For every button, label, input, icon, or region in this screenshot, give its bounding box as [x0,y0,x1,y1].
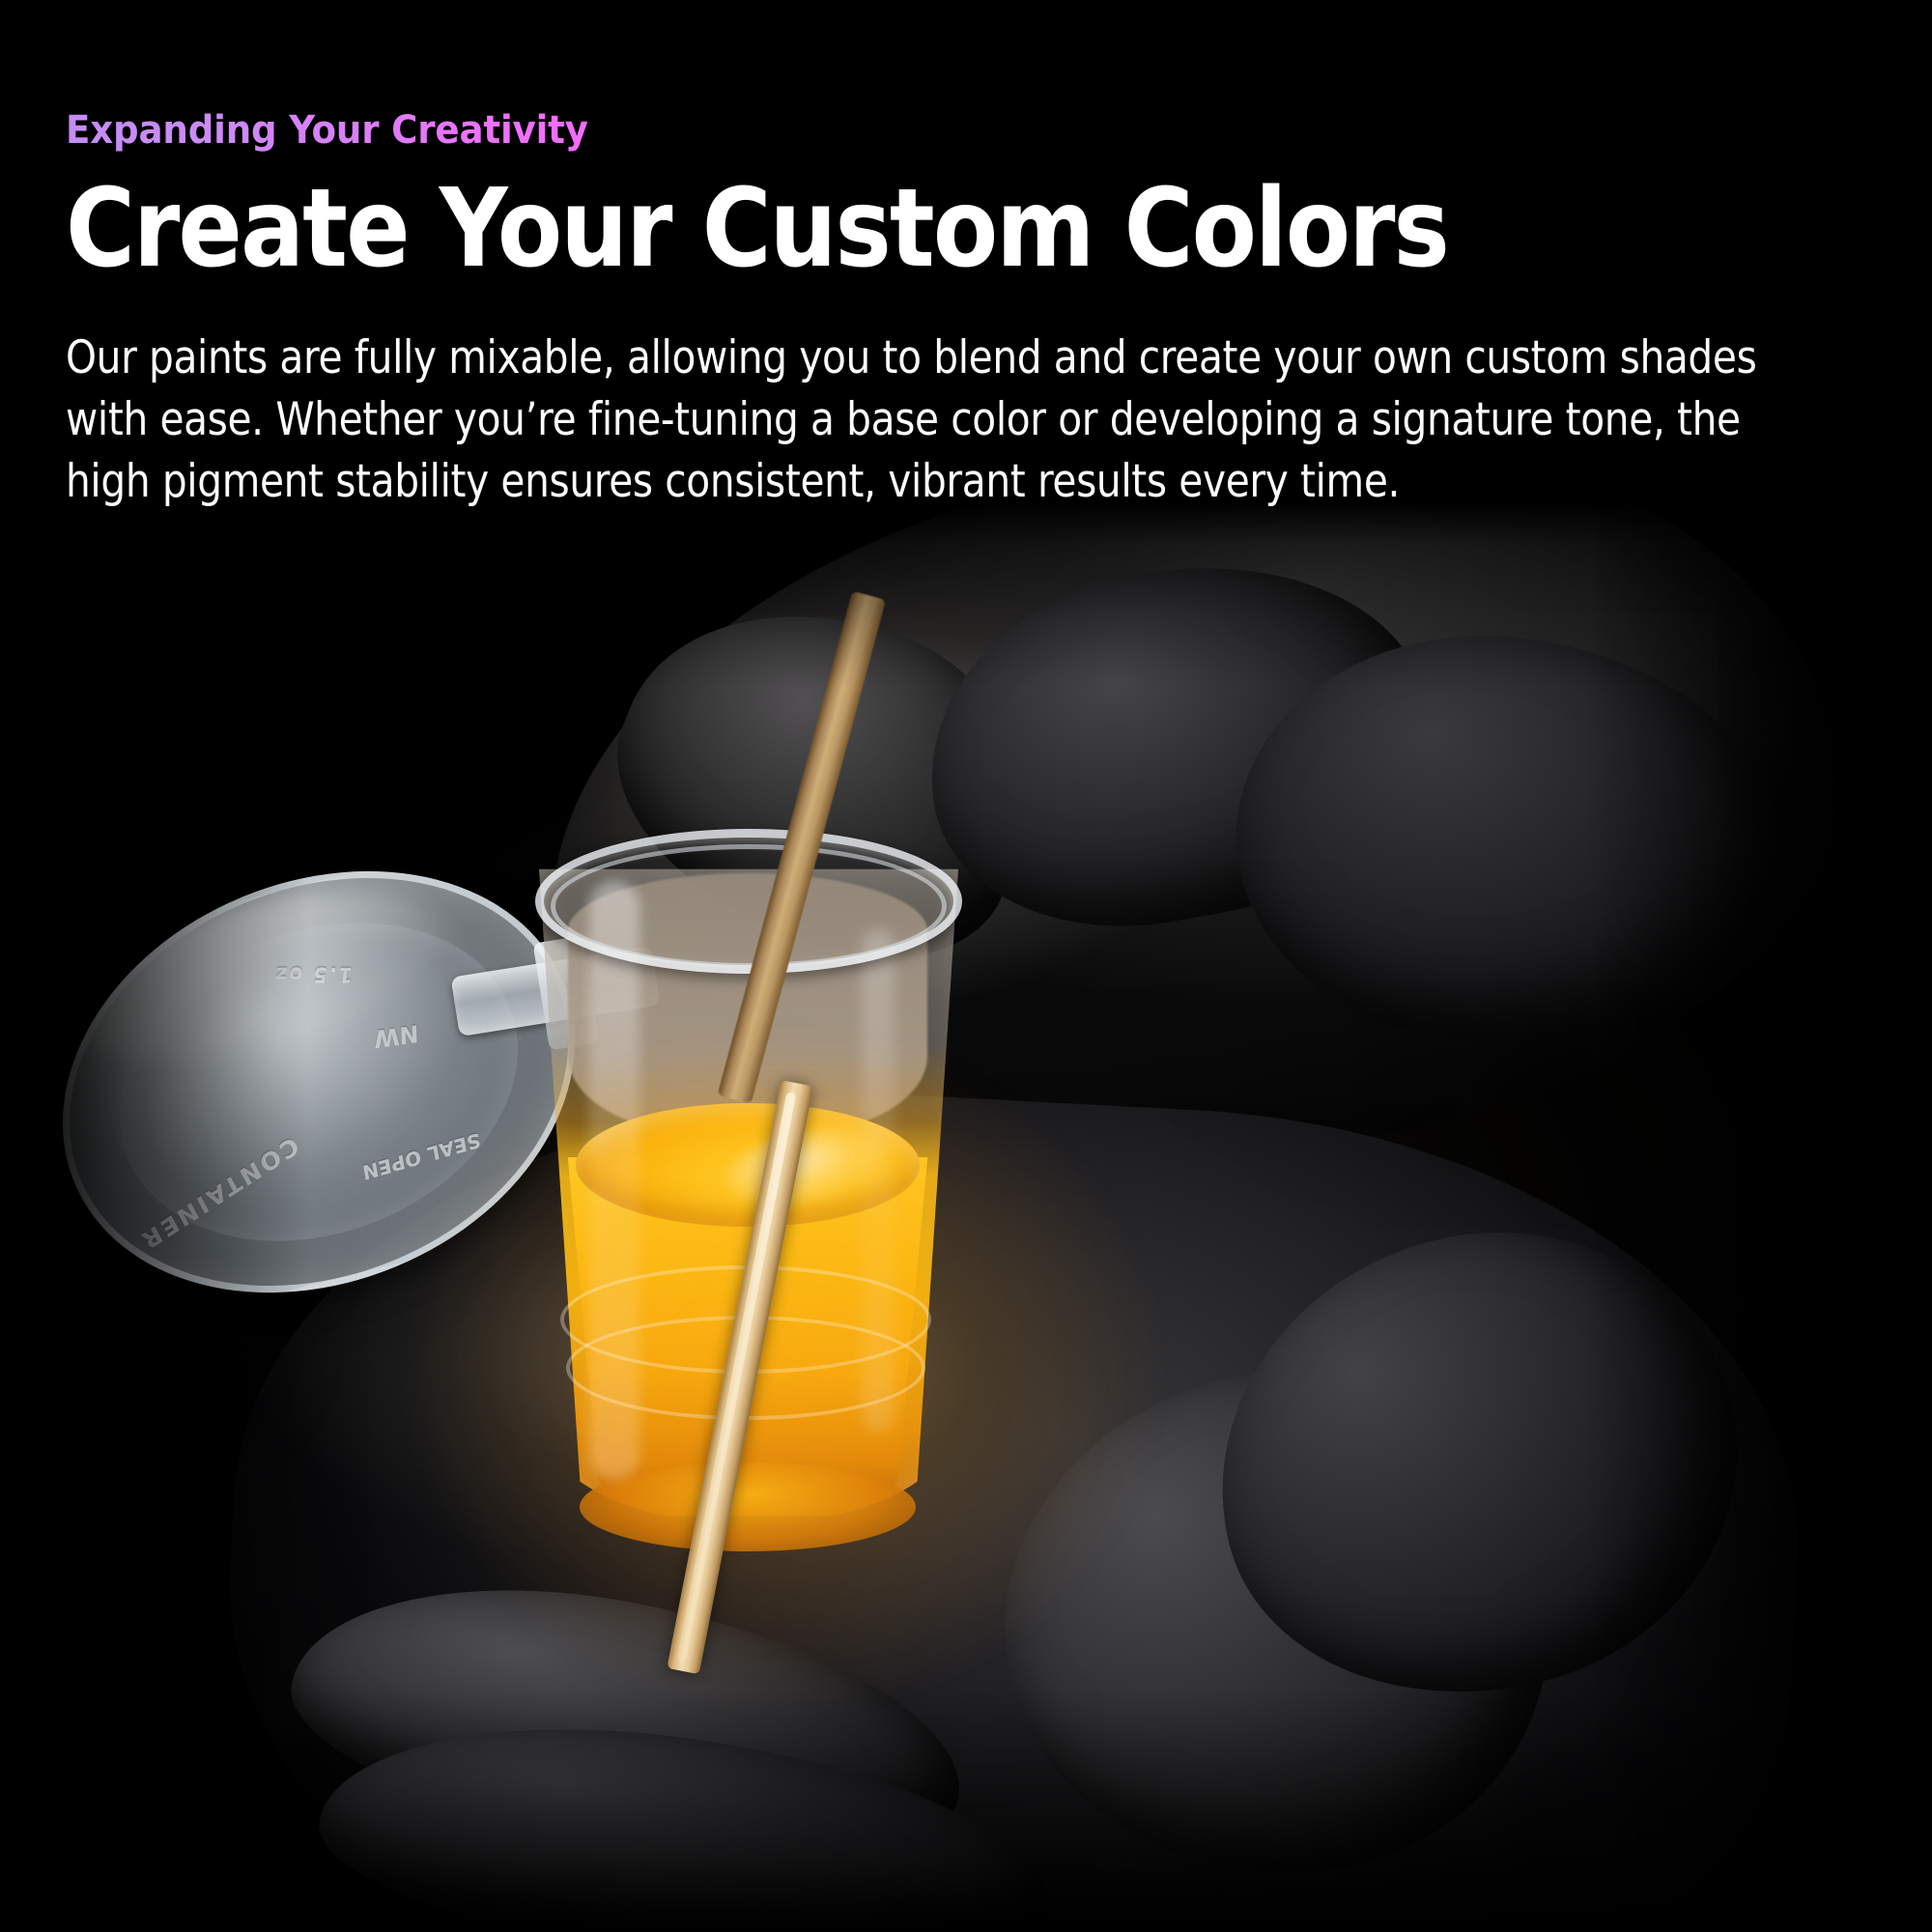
body-line-1: Our paints are fully mixable, allowing y… [66,327,1787,389]
copy-block: Expanding Your Creativity Create Your Cu… [66,108,1882,513]
cup-base [580,1463,916,1551]
body-line-2: with ease. Whether you’re fine-tuning a … [66,389,1787,451]
promo-banner: Expanding Your Creativity Create Your Cu… [0,0,1932,1932]
page-title: Create Your Custom Colors [66,175,1655,283]
cup-highlight-left [589,881,639,1480]
cup-highlight-right [862,929,895,1432]
eyebrow-text: Expanding Your Creativity [66,108,588,154]
body-line-3: high pigment stability ensures consisten… [66,451,1787,513]
paint-mixing-cup [522,813,976,1548]
product-photo: 1.5 oz CONTAINER NW SEAL OPEN [0,502,1932,1932]
body-paragraph: Our paints are fully mixable, allowing y… [66,327,1787,513]
cup-rim-inner [551,844,947,968]
